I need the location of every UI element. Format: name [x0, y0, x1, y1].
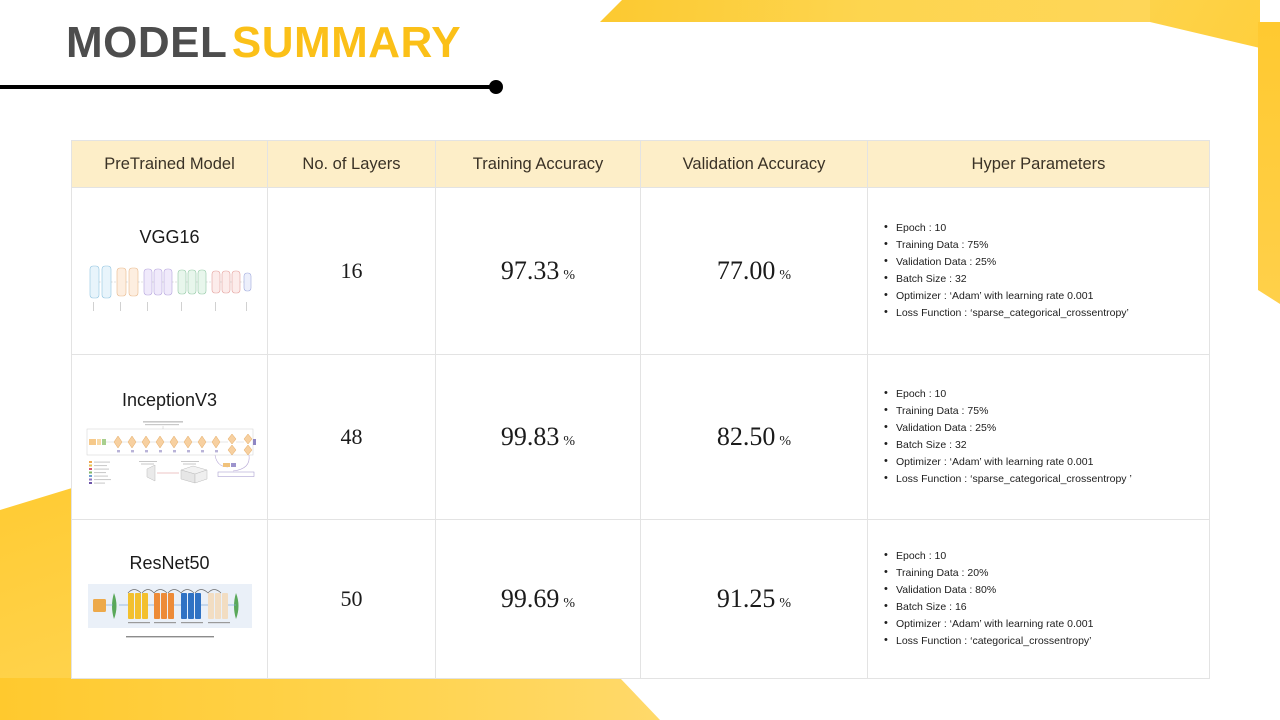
model-cell-vgg16: VGG16	[72, 188, 268, 355]
model-name: ResNet50	[72, 553, 267, 574]
top-right-corner-decoration	[1150, 0, 1260, 48]
validation-accuracy-cell: 82.50%	[641, 355, 868, 520]
title-underline	[0, 80, 512, 94]
hyper-parameters-cell: Epoch : 10 Training Data : 20% Validatio…	[868, 520, 1210, 679]
hyper-parameters-list: Epoch : 10 Training Data : 20% Validatio…	[868, 548, 1209, 650]
column-header-hyper-parameters: Hyper Parameters	[868, 141, 1210, 188]
hyper-parameters-cell: Epoch : 10 Training Data : 75% Validatio…	[868, 188, 1210, 355]
inceptionv3-architecture-diagram	[72, 417, 267, 485]
training-accuracy-cell: 99.83%	[436, 355, 641, 520]
validation-accuracy-unit: %	[779, 596, 791, 611]
hyper-parameter-item: Epoch : 10	[884, 548, 1209, 565]
hyper-parameter-item: Training Data : 75%	[884, 403, 1209, 420]
table-row: VGG16	[72, 188, 1210, 355]
model-name: VGG16	[72, 227, 267, 248]
hyper-parameters-list: Epoch : 10 Training Data : 75% Validatio…	[868, 386, 1209, 488]
training-accuracy-unit: %	[563, 596, 575, 611]
column-header-no-of-layers: No. of Layers	[268, 141, 436, 188]
validation-accuracy-unit: %	[779, 434, 791, 449]
training-accuracy-value: 99.69	[501, 584, 560, 613]
resnet50-architecture-diagram	[72, 580, 267, 646]
validation-accuracy-cell: 91.25%	[641, 520, 868, 679]
hyper-parameter-item: Training Data : 20%	[884, 565, 1209, 582]
validation-accuracy-value: 91.25	[717, 584, 776, 613]
hyper-parameter-item: Batch Size : 32	[884, 437, 1209, 454]
hyper-parameter-item: Training Data : 75%	[884, 237, 1209, 254]
title-underline-line	[0, 85, 492, 89]
bottom-left-corner-decoration	[0, 488, 72, 698]
hyper-parameter-item: Optimizer : ‘Adam’ with learning rate 0.…	[884, 454, 1209, 471]
layers-cell: 50	[268, 520, 436, 679]
training-accuracy-unit: %	[563, 268, 575, 283]
training-accuracy-unit: %	[563, 434, 575, 449]
hyper-parameters-cell: Epoch : 10 Training Data : 75% Validatio…	[868, 355, 1210, 520]
table-row: ResNet50	[72, 520, 1210, 679]
hyper-parameter-item: Epoch : 10	[884, 220, 1209, 237]
model-summary-table: PreTrained Model No. of Layers Training …	[71, 140, 1210, 679]
table-header-row: PreTrained Model No. of Layers Training …	[72, 141, 1210, 188]
table-row: InceptionV3	[72, 355, 1210, 520]
training-accuracy-value: 99.83	[501, 422, 560, 451]
hyper-parameter-item: Optimizer : ‘Adam’ with learning rate 0.…	[884, 616, 1209, 633]
training-accuracy-cell: 97.33%	[436, 188, 641, 355]
hyper-parameter-item: Validation Data : 25%	[884, 254, 1209, 271]
right-edge-decoration	[1258, 22, 1280, 304]
hyper-parameters-list: Epoch : 10 Training Data : 75% Validatio…	[868, 220, 1209, 322]
page-title: MODEL SUMMARY	[66, 18, 461, 68]
hyper-parameter-item: Batch Size : 32	[884, 271, 1209, 288]
validation-accuracy-unit: %	[779, 268, 791, 283]
page-title-accent: SUMMARY	[232, 18, 461, 67]
hyper-parameter-item: Loss Function : ‘sparse_categorical_cros…	[884, 305, 1209, 322]
training-accuracy-value: 97.33	[501, 256, 560, 285]
hyper-parameter-item: Epoch : 10	[884, 386, 1209, 403]
column-header-validation-accuracy: Validation Accuracy	[641, 141, 868, 188]
model-cell-resnet50: ResNet50	[72, 520, 268, 679]
bottom-band-decoration	[0, 678, 660, 720]
layers-cell: 48	[268, 355, 436, 520]
hyper-parameter-item: Loss Function : ‘sparse_categorical_cros…	[884, 471, 1209, 488]
hyper-parameter-item: Optimizer : ‘Adam’ with learning rate 0.…	[884, 288, 1209, 305]
hyper-parameter-item: Validation Data : 25%	[884, 420, 1209, 437]
vgg16-architecture-diagram	[72, 254, 267, 316]
training-accuracy-cell: 99.69%	[436, 520, 641, 679]
validation-accuracy-value: 77.00	[717, 256, 776, 285]
validation-accuracy-cell: 77.00%	[641, 188, 868, 355]
layers-cell: 16	[268, 188, 436, 355]
hyper-parameter-item: Batch Size : 16	[884, 599, 1209, 616]
column-header-training-accuracy: Training Accuracy	[436, 141, 641, 188]
validation-accuracy-value: 82.50	[717, 422, 776, 451]
hyper-parameter-item: Validation Data : 80%	[884, 582, 1209, 599]
model-cell-inceptionv3: InceptionV3	[72, 355, 268, 520]
title-underline-dot	[489, 80, 503, 94]
hyper-parameter-item: Loss Function : ‘categorical_crossentrop…	[884, 633, 1209, 650]
model-name: InceptionV3	[72, 390, 267, 411]
page-title-primary: MODEL	[66, 18, 227, 67]
column-header-pretrained-model: PreTrained Model	[72, 141, 268, 188]
